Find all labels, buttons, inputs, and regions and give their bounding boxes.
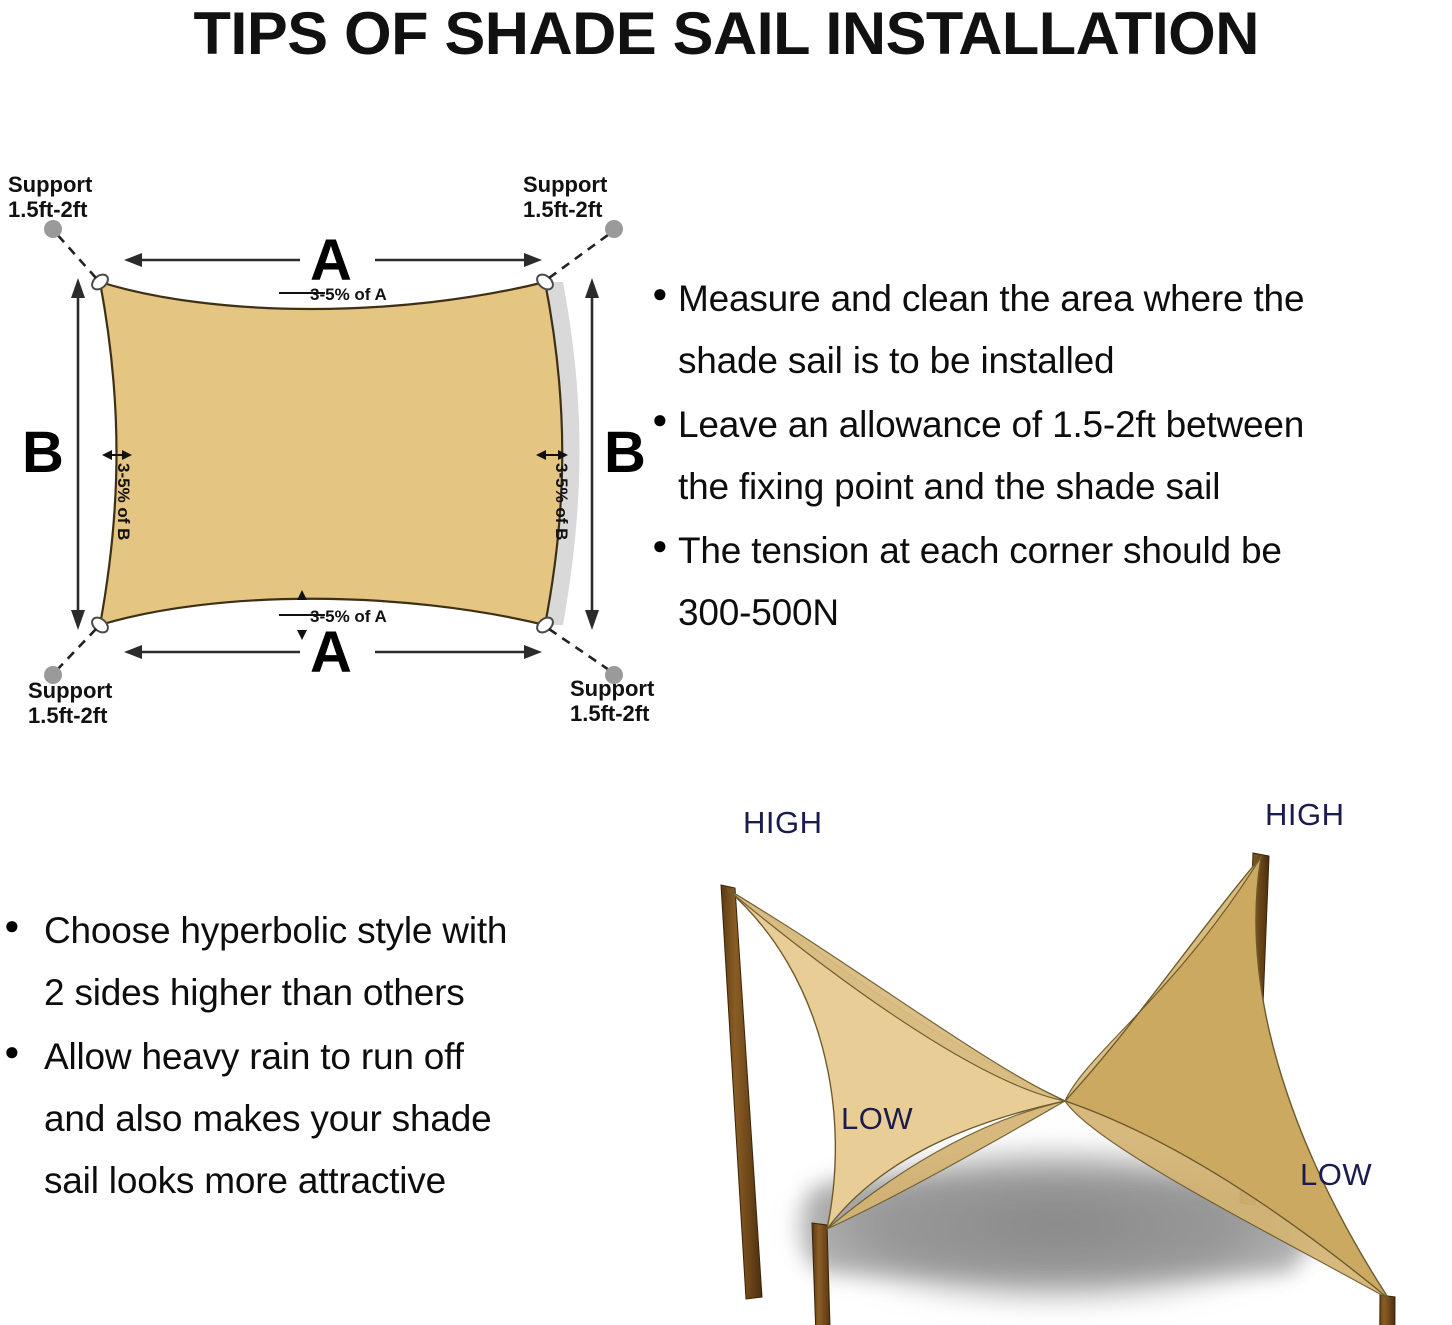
curve-callout-bottom-head2: [297, 630, 307, 640]
curve-label-left: 3-5% of B: [114, 463, 133, 540]
label-high-right: HIGH: [1265, 797, 1345, 832]
pole-high-left: [721, 885, 762, 1299]
tip-line: and also makes your shade: [44, 1088, 492, 1150]
bullet-icon: ●: [4, 1026, 44, 1076]
support-point-top-left: [44, 220, 62, 238]
dim-arrowhead-top-right: [524, 253, 542, 267]
support-label-bottom-left-line2: 1.5ft-2ft: [28, 703, 108, 728]
support-line-top-left: [55, 232, 96, 278]
tip-line: Leave an allowance of 1.5-2ft between: [678, 394, 1304, 456]
tip-line: Choose hyperbolic style with: [44, 900, 507, 962]
bullet-icon: ●: [652, 394, 678, 444]
support-line-bottom-left: [55, 629, 96, 672]
support-line-top-right: [549, 232, 612, 278]
support-label-top-left-line2: 1.5ft-2ft: [8, 197, 88, 222]
label-high-left: HIGH: [743, 805, 823, 840]
list-item: ● Choose hyperbolic style with 2 sides h…: [4, 900, 644, 1024]
tips-list-top: ● Measure and clean the area where the s…: [652, 268, 1452, 646]
shade-sail-shape: [100, 282, 562, 625]
label-low-right: LOW: [1300, 1157, 1372, 1192]
pole-low-right: [1378, 1295, 1395, 1325]
curve-callout-left-head1: [102, 450, 112, 460]
dim-arrowhead-top-left: [124, 253, 142, 267]
support-point-top-right: [605, 220, 623, 238]
support-line-bottom-right: [549, 629, 612, 672]
dim-letter-B-right: B: [604, 420, 646, 485]
page-title-bar: TIPS OF SHADE SAIL INSTALLATION: [0, 0, 1452, 68]
dim-letter-B-left: B: [22, 420, 64, 485]
support-label-top-right-line1: Support: [523, 172, 608, 197]
tip-line: Allow heavy rain to run off: [44, 1026, 492, 1088]
dim-arrowhead-left-down: [71, 610, 85, 630]
bullet-icon: ●: [652, 268, 678, 318]
support-label-bottom-right-line1: Support: [570, 676, 655, 701]
tip-line: 300-500N: [678, 582, 1282, 644]
dim-arrowhead-bottom-right: [524, 645, 542, 659]
list-item: ● Leave an allowance of 1.5-2ft between …: [652, 394, 1452, 518]
tip-line: shade sail is to be installed: [678, 330, 1304, 392]
tip-line: 2 sides higher than others: [44, 962, 507, 1024]
support-label-bottom-right-line2: 1.5ft-2ft: [570, 701, 650, 726]
support-label-bottom-left-line1: Support: [28, 678, 113, 703]
dim-arrowhead-right-down: [585, 610, 599, 630]
support-label-top-right-line2: 1.5ft-2ft: [523, 197, 603, 222]
label-low-left: LOW: [841, 1101, 913, 1136]
curve-label-right: 3-5% of B: [552, 463, 571, 540]
support-label-top-left-line1: Support: [8, 172, 93, 197]
tip-line: Measure and clean the area where the: [678, 268, 1304, 330]
tip-line: The tension at each corner should be: [678, 520, 1282, 582]
dim-arrowhead-left-up: [71, 278, 85, 298]
dim-letter-A-bottom: A: [310, 620, 352, 685]
dim-arrowhead-right-up: [585, 278, 599, 298]
tips-list-bottom: ● Choose hyperbolic style with 2 sides h…: [4, 900, 644, 1214]
list-item: ● The tension at each corner should be 3…: [652, 520, 1452, 644]
tip-line: the fixing point and the shade sail: [678, 456, 1304, 518]
bullet-icon: ●: [4, 900, 44, 950]
list-item: ● Measure and clean the area where the s…: [652, 268, 1452, 392]
bullet-icon: ●: [652, 520, 678, 570]
tip-line: sail looks more attractive: [44, 1150, 492, 1212]
page-title: TIPS OF SHADE SAIL INSTALLATION: [193, 4, 1258, 64]
rect-sail-diagram: Support 1.5ft-2ft Support 1.5ft-2ft Supp…: [0, 160, 660, 740]
curve-label-top: 3-5% of A: [310, 285, 387, 304]
hyperbolic-sail-illustration: HIGH HIGH LOW LOW: [655, 785, 1452, 1325]
dim-arrowhead-bottom-left: [124, 645, 142, 659]
list-item: ● Allow heavy rain to run off and also m…: [4, 1026, 644, 1212]
dim-letter-A-top: A: [310, 228, 352, 293]
